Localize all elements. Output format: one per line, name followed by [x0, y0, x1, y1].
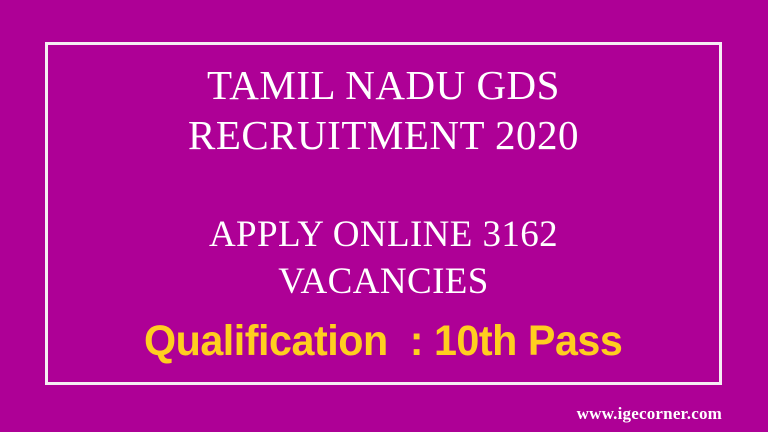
subheadline-block: APPLY ONLINE 3162 VACANCIES [45, 211, 722, 305]
subheadline-line-1: APPLY ONLINE 3162 [45, 211, 722, 258]
headline-line-2: RECRUITMENT 2020 [45, 110, 722, 160]
qualification-block: Qualification : 10th Pass [45, 316, 722, 366]
headline-line-1: TAMIL NADU GDS [45, 60, 722, 110]
subheadline-line-2: VACANCIES [45, 258, 722, 305]
qualification-text: Qualification : 10th Pass [144, 316, 622, 366]
poster-content: TAMIL NADU GDS RECRUITMENT 2020 APPLY ON… [45, 42, 722, 385]
poster-canvas: TAMIL NADU GDS RECRUITMENT 2020 APPLY ON… [0, 0, 768, 432]
headline-block: TAMIL NADU GDS RECRUITMENT 2020 [45, 60, 722, 160]
website-url-credit: www.igecorner.com [577, 404, 722, 424]
